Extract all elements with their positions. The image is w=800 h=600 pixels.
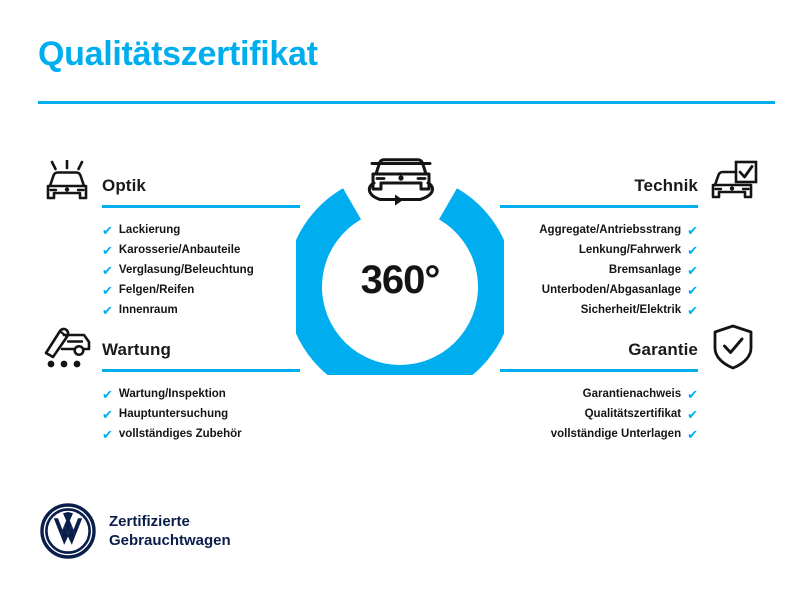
check-icon: ✔ bbox=[102, 264, 113, 277]
section-optik: Optik ✔Lackierung ✔Karosserie/Anbauteile… bbox=[38, 158, 338, 208]
section-divider bbox=[102, 369, 300, 372]
list-item-label: vollständige Unterlagen bbox=[551, 424, 681, 444]
section-title: Technik bbox=[634, 176, 698, 196]
list-item-label: Karosserie/Anbauteile bbox=[119, 240, 240, 260]
list-item-label: Aggregate/Antriebsstrang bbox=[539, 220, 681, 240]
check-icon: ✔ bbox=[102, 244, 113, 257]
list-item-label: Innenraum bbox=[119, 300, 178, 320]
checklist: Garantienachweis✔ Qualitätszertifikat✔ v… bbox=[398, 384, 698, 444]
list-item-label: Lackierung bbox=[119, 220, 180, 240]
section-technik: Technik Aggregate/Antriebsstrang✔ Lenkun… bbox=[462, 158, 762, 208]
gebrauchtwagen-check-badge: Gebrauchtwagen-Check 360° bbox=[296, 150, 504, 375]
check-icon: ✔ bbox=[687, 388, 698, 401]
check-icon: ✔ bbox=[102, 304, 113, 317]
section-title: Optik bbox=[102, 176, 146, 196]
section-header: Optik bbox=[38, 158, 338, 208]
section-header: Wartung bbox=[38, 322, 338, 372]
list-item-label: vollständiges Zubehör bbox=[119, 424, 242, 444]
section-header: Technik bbox=[462, 158, 762, 208]
check-icon: ✔ bbox=[687, 264, 698, 277]
list-item-label: Garantienachweis bbox=[583, 384, 681, 404]
list-item-label: Felgen/Reifen bbox=[119, 280, 194, 300]
car-checkbox-icon bbox=[704, 158, 762, 208]
check-icon: ✔ bbox=[687, 224, 698, 237]
list-item-label: Bremsanlage bbox=[609, 260, 681, 280]
section-divider bbox=[500, 205, 698, 208]
section-divider bbox=[102, 205, 300, 208]
vw-roundel-logo bbox=[40, 503, 96, 559]
list-item-label: Sicherheit/Elektrik bbox=[581, 300, 681, 320]
check-icon: ✔ bbox=[687, 408, 698, 421]
list-item: Garantienachweis✔ bbox=[398, 384, 698, 404]
section-garantie: Garantie Garantienachweis✔ Qualitätszert… bbox=[462, 322, 762, 372]
check-icon: ✔ bbox=[102, 408, 113, 421]
check-icon: ✔ bbox=[687, 244, 698, 257]
check-icon: ✔ bbox=[687, 428, 698, 441]
footer-line-2: Gebrauchtwagen bbox=[109, 531, 231, 550]
car-polish-shine-icon bbox=[38, 158, 96, 208]
header-divider bbox=[38, 101, 775, 104]
check-icon: ✔ bbox=[687, 304, 698, 317]
check-icon: ✔ bbox=[102, 388, 113, 401]
car-service-wrench-icon bbox=[38, 322, 96, 372]
footer-line-1: Zertifizierte bbox=[109, 513, 190, 530]
shield-check-icon bbox=[704, 322, 762, 372]
badge-degrees-label: 360° bbox=[296, 258, 504, 303]
car-rotation-360-icon bbox=[358, 150, 444, 212]
section-wartung: Wartung ✔Wartung/Inspektion ✔Hauptunters… bbox=[38, 322, 338, 372]
list-item-label: Lenkung/Fahrwerk bbox=[579, 240, 681, 260]
page-title: Qualitätszertifikat bbox=[38, 36, 318, 73]
list-item: ✔Hauptuntersuchung bbox=[102, 404, 402, 424]
list-item-label: Wartung/Inspektion bbox=[119, 384, 226, 404]
list-item-label: Qualitätszertifikat bbox=[585, 404, 682, 424]
section-divider bbox=[500, 369, 698, 372]
check-icon: ✔ bbox=[102, 224, 113, 237]
list-item-label: Verglasung/Beleuchtung bbox=[119, 260, 254, 280]
list-item: Qualitätszertifikat✔ bbox=[398, 404, 698, 424]
checklist: ✔Wartung/Inspektion ✔Hauptuntersuchung ✔… bbox=[102, 384, 402, 444]
footer-brand-text: Zertifizierte Gebrauchtwagen bbox=[109, 512, 231, 550]
list-item: ✔vollständiges Zubehör bbox=[102, 424, 402, 444]
list-item-label: Unterboden/Abgasanlage bbox=[542, 280, 681, 300]
check-icon: ✔ bbox=[102, 428, 113, 441]
list-item: ✔Wartung/Inspektion bbox=[102, 384, 402, 404]
list-item-label: Hauptuntersuchung bbox=[119, 404, 228, 424]
check-icon: ✔ bbox=[687, 284, 698, 297]
footer-brand-lockup: Zertifizierte Gebrauchtwagen bbox=[40, 503, 231, 559]
list-item: vollständige Unterlagen✔ bbox=[398, 424, 698, 444]
section-title: Wartung bbox=[102, 340, 171, 360]
check-icon: ✔ bbox=[102, 284, 113, 297]
section-title: Garantie bbox=[628, 340, 698, 360]
section-header: Garantie bbox=[462, 322, 762, 372]
